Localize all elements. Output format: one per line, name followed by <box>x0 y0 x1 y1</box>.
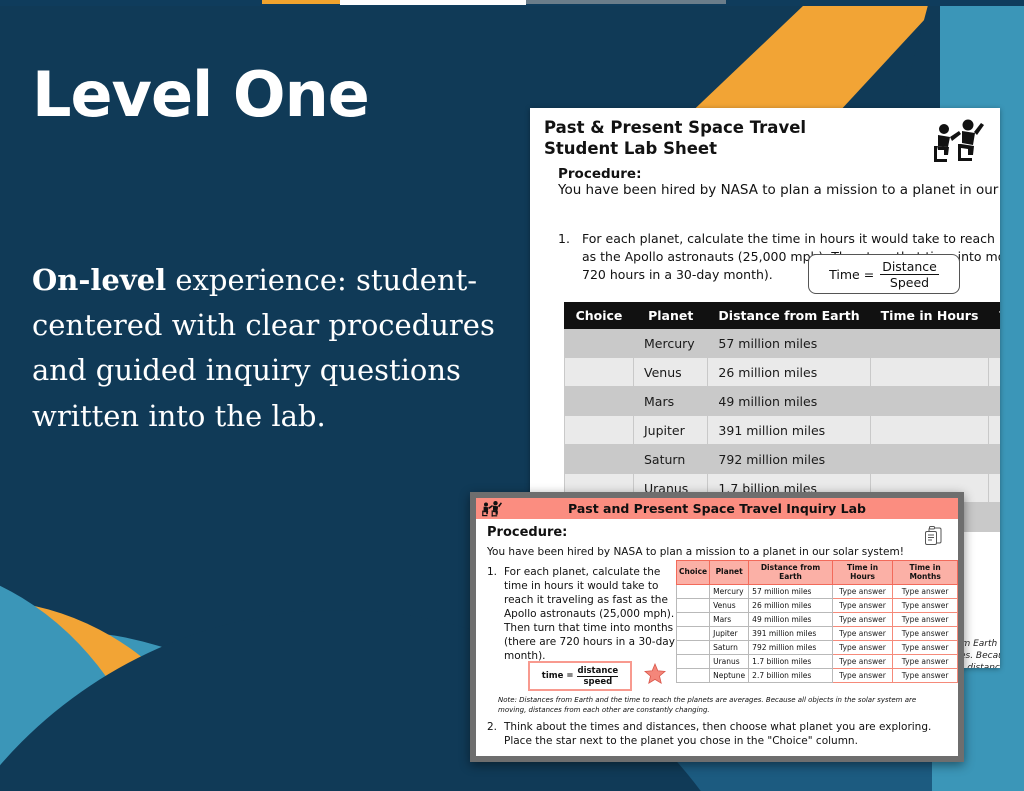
inquiry-lab-table-header-row: Choice Planet Distance from Earth Time i… <box>677 561 958 585</box>
cell-distance: 792 million miles <box>749 641 833 655</box>
lab-sheet-title: Past & Present Space Travel Student Lab … <box>544 118 806 159</box>
slide-body-text: On-level experience: student-centered wi… <box>32 258 502 439</box>
table-row: Jupiter 391 million miles Type answer Ty… <box>677 627 958 641</box>
inquiry-th-distance: Distance from Earth <box>749 561 833 585</box>
inquiry-lab-step-2-text: Think about the times and distances, the… <box>504 720 937 748</box>
cell-hours-input[interactable]: Type answer <box>832 599 892 613</box>
astronauts-seated-icon <box>930 116 988 166</box>
table-row: Mercury 57 million miles Type answer Typ… <box>677 585 958 599</box>
cell-choice <box>565 387 634 416</box>
top-edge-gray-strip <box>526 0 726 4</box>
lab-sheet-formula-fraction: Distance Speed <box>880 259 939 290</box>
cell-distance: 57 million miles <box>708 329 870 358</box>
lab-sheet-th-planet: Planet <box>634 303 708 329</box>
inquiry-lab-step-1: 1. For each planet, calculate the time i… <box>487 566 677 664</box>
cell-months <box>989 358 1000 387</box>
lab-sheet-title-line1: Past & Present Space Travel <box>544 118 806 139</box>
inquiry-lab-step-1-text: For each planet, calculate the time in h… <box>504 566 677 664</box>
lab-sheet-th-months: Time in Months <box>989 303 1000 329</box>
lab-sheet-table-header-row: Choice Planet Distance from Earth Time i… <box>565 303 1001 329</box>
lab-sheet-step-1-number: 1. <box>558 230 572 283</box>
lab-sheet-intro: You have been hired by NASA to plan a mi… <box>558 182 1000 199</box>
lab-sheet-formula-denominator: Speed <box>890 275 929 290</box>
lab-sheet-th-hours: Time in Hours <box>870 303 989 329</box>
lab-sheet-th-choice: Choice <box>565 303 634 329</box>
cell-months-input[interactable]: Type answer <box>893 655 958 669</box>
cell-hours <box>870 329 989 358</box>
table-row: Uranus 1.7 billion miles Type answer Typ… <box>677 655 958 669</box>
inquiry-lab-procedure-label: Procedure: <box>487 525 567 540</box>
lab-sheet-th-distance: Distance from Earth <box>708 303 870 329</box>
cell-hours-input[interactable]: Type answer <box>832 585 892 599</box>
inquiry-th-planet: Planet <box>710 561 749 585</box>
inquiry-lab-document[interactable]: Past and Present Space Travel Inquiry La… <box>470 492 964 762</box>
table-row: Mars 49 million miles Type answer Type a… <box>677 613 958 627</box>
cell-choice <box>565 358 634 387</box>
cell-choice[interactable] <box>677 641 710 655</box>
table-row: Mercury 57 million miles <box>565 329 1001 358</box>
table-row: Saturn 792 million miles Type answer Typ… <box>677 641 958 655</box>
clipboard-icon <box>922 524 946 548</box>
cell-distance: 391 million miles <box>708 416 870 445</box>
cell-distance: 1.7 billion miles <box>749 655 833 669</box>
cell-hours-input[interactable]: Type answer <box>832 613 892 627</box>
cell-months <box>989 503 1000 532</box>
cell-choice[interactable] <box>677 655 710 669</box>
table-row: Saturn 792 million miles <box>565 445 1001 474</box>
inquiry-th-hours: Time in Hours <box>832 561 892 585</box>
table-row: Mars 49 million miles <box>565 387 1001 416</box>
table-row: Venus 26 million miles <box>565 358 1001 387</box>
cell-hours-input[interactable]: Type answer <box>832 655 892 669</box>
cell-months <box>989 387 1000 416</box>
cell-planet: Jupiter <box>710 627 749 641</box>
cell-hours-input[interactable]: Type answer <box>832 627 892 641</box>
cell-choice[interactable] <box>677 613 710 627</box>
cell-hours-input[interactable]: Type answer <box>832 669 892 683</box>
cell-distance: 26 million miles <box>708 358 870 387</box>
top-edge-orange-strip <box>262 0 340 4</box>
table-row: Neptune 2.7 billion miles Type answer Ty… <box>677 669 958 683</box>
lab-sheet-formula-numerator: Distance <box>880 259 939 275</box>
cell-distance: 49 million miles <box>749 613 833 627</box>
cell-months <box>989 474 1000 503</box>
cell-choice[interactable] <box>677 669 710 683</box>
cell-distance: 391 million miles <box>749 627 833 641</box>
cell-months <box>989 329 1000 358</box>
inquiry-lab-planet-table[interactable]: Choice Planet Distance from Earth Time i… <box>676 560 958 683</box>
lab-sheet-title-line2: Student Lab Sheet <box>544 139 806 160</box>
cell-choice[interactable] <box>677 585 710 599</box>
cell-planet: Venus <box>710 599 749 613</box>
cell-months-input[interactable]: Type answer <box>893 669 958 683</box>
cell-choice[interactable] <box>677 599 710 613</box>
cell-planet: Jupiter <box>634 416 708 445</box>
cell-distance: 2.7 billion miles <box>749 669 833 683</box>
inquiry-lab-formula-fraction: distance speed <box>577 666 618 687</box>
cell-planet: Mercury <box>710 585 749 599</box>
cell-choice <box>565 416 634 445</box>
cell-planet: Mercury <box>634 329 708 358</box>
top-edge-white-strip <box>340 0 526 5</box>
cell-distance: 26 million miles <box>749 599 833 613</box>
cell-months-input[interactable]: Type answer <box>893 641 958 655</box>
lab-sheet-procedure-label: Procedure: <box>558 166 641 182</box>
cell-planet: Mars <box>710 613 749 627</box>
astronauts-seated-icon <box>481 500 503 517</box>
body-lead-bold: On-level <box>32 263 166 297</box>
cell-choice[interactable] <box>677 627 710 641</box>
inquiry-lab-header-bar: Past and Present Space Travel Inquiry La… <box>476 498 958 519</box>
table-row: Jupiter 391 million miles <box>565 416 1001 445</box>
slide-canvas: Level One On-level experience: student-c… <box>0 0 1024 791</box>
cell-months <box>989 445 1000 474</box>
cell-hours-input[interactable]: Type answer <box>832 641 892 655</box>
cell-months <box>989 416 1000 445</box>
inquiry-lab-step-1-number: 1. <box>487 566 498 664</box>
inquiry-lab-page: Past and Present Space Travel Inquiry La… <box>476 498 958 756</box>
cell-months-input[interactable]: Type answer <box>893 627 958 641</box>
inquiry-lab-step-2-number: 2. <box>487 720 498 748</box>
lab-sheet-formula-lhs: Time = <box>829 267 874 282</box>
table-row: Venus 26 million miles Type answer Type … <box>677 599 958 613</box>
cell-months-input[interactable]: Type answer <box>893 599 958 613</box>
inquiry-lab-formula-denominator: speed <box>583 677 612 687</box>
cell-hours <box>870 416 989 445</box>
cell-months-input[interactable]: Type answer <box>893 613 958 627</box>
inquiry-lab-table-body: Mercury 57 million miles Type answer Typ… <box>677 585 958 683</box>
cell-distance: 57 million miles <box>749 585 833 599</box>
cell-choice <box>565 329 634 358</box>
inquiry-lab-formula-numerator: distance <box>577 666 618 677</box>
inquiry-th-choice: Choice <box>677 561 710 585</box>
cell-planet: Neptune <box>710 669 749 683</box>
cell-hours <box>870 387 989 416</box>
cell-planet: Saturn <box>710 641 749 655</box>
cell-distance: 792 million miles <box>708 445 870 474</box>
cell-choice <box>565 445 634 474</box>
inquiry-lab-intro: You have been hired by NASA to plan a mi… <box>487 546 917 558</box>
star-icon[interactable] <box>644 663 666 685</box>
inquiry-lab-formula-box: time = distance speed <box>528 661 632 691</box>
cell-planet: Mars <box>634 387 708 416</box>
inquiry-lab-formula-lhs: time = <box>542 671 574 681</box>
inquiry-lab-note: Note: Distances from Earth and the time … <box>498 696 928 716</box>
cell-planet: Uranus <box>710 655 749 669</box>
cell-hours <box>870 358 989 387</box>
cell-distance: 49 million miles <box>708 387 870 416</box>
inquiry-th-months: Time in Months <box>893 561 958 585</box>
cell-planet: Venus <box>634 358 708 387</box>
cell-hours <box>870 445 989 474</box>
cell-months-input[interactable]: Type answer <box>893 585 958 599</box>
cell-planet: Saturn <box>634 445 708 474</box>
inquiry-lab-title: Past and Present Space Travel Inquiry La… <box>568 501 866 516</box>
lab-sheet-formula-box: Time = Distance Speed <box>808 254 960 294</box>
inquiry-lab-step-2: 2. Think about the times and distances, … <box>487 720 937 748</box>
slide-title: Level One <box>32 62 369 127</box>
